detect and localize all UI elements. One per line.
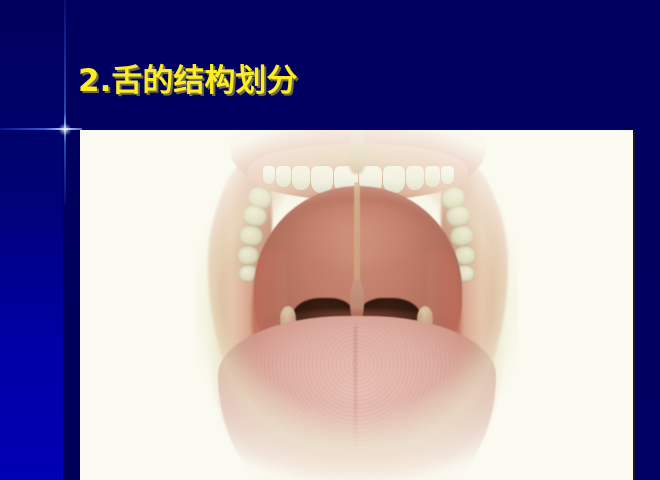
molar bbox=[449, 224, 476, 247]
left-accent-panel bbox=[0, 0, 63, 480]
slide-title: 2.舌的结构划分 bbox=[78, 62, 297, 100]
anatomy-photo bbox=[80, 130, 633, 480]
tooth bbox=[292, 166, 310, 190]
mouth-illustration bbox=[80, 130, 633, 480]
cross-glow-spark-icon bbox=[56, 121, 74, 138]
molar bbox=[238, 224, 265, 247]
incisive-papilla bbox=[348, 130, 366, 174]
tooth bbox=[276, 166, 291, 187]
tooth bbox=[263, 166, 276, 184]
tooth bbox=[383, 166, 405, 193]
vertical-accent-line-icon bbox=[64, 0, 66, 205]
tooth bbox=[425, 166, 440, 187]
presentation-slide: 2.舌的结构划分 bbox=[0, 0, 660, 480]
tooth bbox=[406, 166, 424, 190]
molar bbox=[237, 246, 259, 265]
tooth bbox=[441, 166, 454, 184]
